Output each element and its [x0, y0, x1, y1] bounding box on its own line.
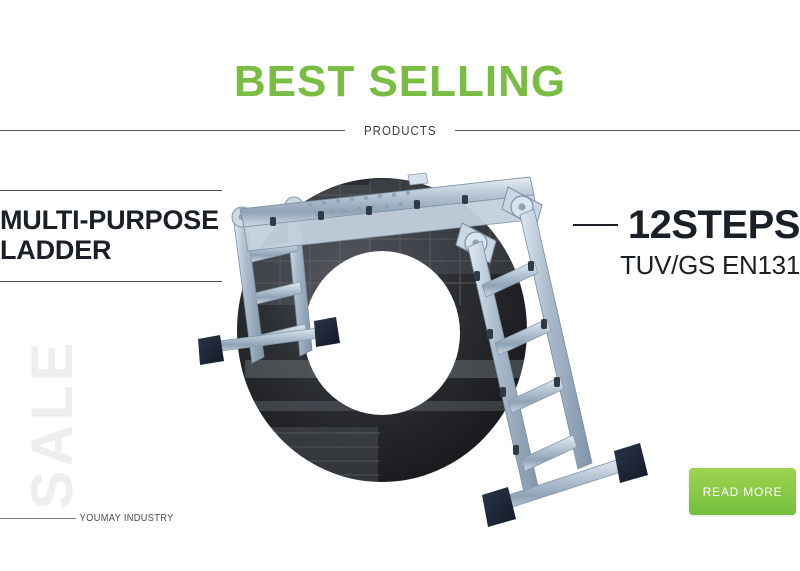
- steps-row: 12STEPS: [570, 205, 800, 245]
- read-more-button[interactable]: READ MORE: [689, 468, 796, 515]
- right-caption-block: 12STEPS TUV/GS EN131: [570, 205, 800, 280]
- brand-footer: YOUMAY INDUSTRY: [0, 513, 240, 524]
- subheading-divider: PRODUCTS: [0, 122, 800, 138]
- accent-dash: [573, 224, 618, 226]
- left-rule-bottom: [0, 281, 222, 282]
- certification-label: TUV/GS EN131: [570, 251, 800, 280]
- best-selling-products-banner: BEST SELLING PRODUCTS SALE: [0, 0, 800, 571]
- brand-name-label: YOUMAY INDUSTRY: [76, 513, 174, 524]
- divider-line-right: [455, 130, 800, 131]
- subheading-label: PRODUCTS: [351, 123, 448, 138]
- left-caption-block: MULTI-PURPOSE LADDER: [0, 190, 222, 282]
- product-name-heading: MULTI-PURPOSE LADDER: [0, 191, 222, 281]
- step-count-label: 12STEPS: [628, 205, 800, 245]
- page-title: BEST SELLING: [0, 60, 800, 104]
- divider-line-left: [0, 130, 345, 131]
- sale-watermark: SALE: [24, 324, 82, 524]
- brand-rule: [0, 518, 76, 519]
